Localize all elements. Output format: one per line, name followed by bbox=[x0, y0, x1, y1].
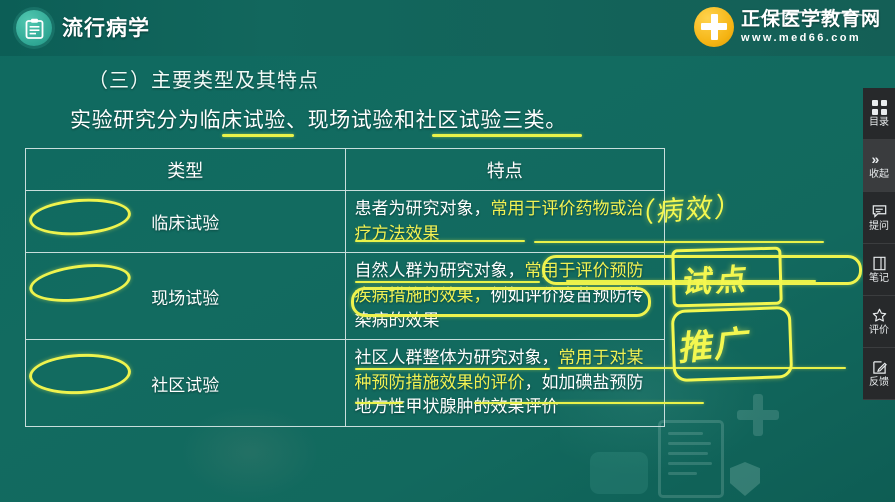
feature-plain-text: 自然人群为研究对象， bbox=[355, 261, 525, 280]
underline-annotation-5 bbox=[355, 281, 540, 283]
handwritten-box-2 bbox=[671, 306, 793, 382]
feature-plain-text: 患者为研究对象， bbox=[355, 199, 491, 218]
underline-annotation-10 bbox=[474, 402, 704, 404]
handwritten-box-1 bbox=[671, 247, 782, 308]
type-label: 临床试验 bbox=[151, 214, 219, 233]
cell-type-field-trial: 现场试验 bbox=[26, 253, 346, 340]
watermark-document-icon bbox=[658, 420, 724, 498]
note-page-icon bbox=[872, 256, 887, 271]
circle-annotation-2 bbox=[27, 259, 133, 307]
underline-annotation-9 bbox=[355, 402, 403, 404]
star-icon bbox=[872, 308, 887, 323]
section-heading: （三）主要类型及其特点 bbox=[88, 64, 319, 93]
cell-type-community-trial: 社区试验 bbox=[26, 340, 346, 427]
circle-annotation-3 bbox=[28, 352, 132, 397]
cell-feature-clinical-trial: 患者为研究对象，常用于评价药物或治疗方法效果 bbox=[345, 191, 665, 253]
circle-annotation-1 bbox=[28, 195, 132, 238]
clipboard-medical-icon bbox=[16, 10, 52, 46]
cell-feature-community-trial: 社区人群整体为研究对象，常用于对某种预防措施效果的评价，如加碘盐预防地方性甲状腺… bbox=[345, 340, 665, 427]
rail-item-label: 提问 bbox=[869, 222, 889, 232]
brand-url: www.med66.com bbox=[741, 33, 881, 44]
types-table: 类型 特点 临床试验 患者为研究对象，常用于评价药物或治疗方法效果 bbox=[25, 148, 665, 427]
feature-plain-text: 社区人群整体为研究对象， bbox=[355, 348, 559, 367]
table-row: 社区试验 社区人群整体为研究对象，常用于对某种预防措施效果的评价，如加碘盐预防地… bbox=[26, 340, 665, 427]
tool-rail: 目录 » 收起 提问 笔记 bbox=[863, 88, 895, 400]
column-header-feature: 特点 bbox=[345, 149, 665, 191]
brand-logo: 正保医学教育网 www.med66.com bbox=[694, 7, 881, 47]
underline-annotation-1 bbox=[222, 134, 294, 137]
table-header-row: 类型 特点 bbox=[26, 149, 665, 191]
rail-item-label: 反馈 bbox=[869, 378, 889, 388]
rail-item-label: 评价 bbox=[869, 326, 889, 336]
slide-viewer: 流行病学 正保医学教育网 www.med66.com （三）主要类型及其特点 实… bbox=[0, 0, 895, 502]
app-header: 流行病学 正保医学教育网 www.med66.com bbox=[0, 0, 895, 56]
underline-annotation-7 bbox=[355, 368, 550, 370]
type-label: 社区试验 bbox=[151, 376, 219, 395]
chat-bubble-icon bbox=[872, 204, 887, 219]
rail-item-feedback[interactable]: 反馈 bbox=[863, 348, 895, 400]
rail-item-label: 收起 bbox=[869, 170, 889, 180]
table-row: 现场试验 自然人群为研究对象，常用于评价预防疾病措施的效果，例如评价疫苗预防传染… bbox=[26, 253, 665, 340]
rail-item-collapse[interactable]: » 收起 bbox=[863, 140, 895, 192]
table-row: 临床试验 患者为研究对象，常用于评价药物或治疗方法效果 bbox=[26, 191, 665, 253]
chevron-right-double-icon: » bbox=[872, 152, 887, 167]
rail-item-rating[interactable]: 评价 bbox=[863, 296, 895, 348]
underline-annotation-3 bbox=[355, 240, 525, 242]
rail-item-label: 目录 bbox=[869, 118, 889, 128]
watermark-shield-icon bbox=[730, 462, 760, 496]
underline-annotation-4 bbox=[534, 241, 824, 243]
lead-sentence: 实验研究分为临床试验、现场试验和社区试验三类。 bbox=[70, 104, 567, 134]
grid-icon bbox=[872, 100, 887, 115]
watermark-plus-icon bbox=[735, 392, 781, 438]
medical-cross-circle-icon bbox=[694, 7, 734, 47]
rail-item-label: 笔记 bbox=[869, 274, 889, 284]
column-header-type: 类型 bbox=[26, 149, 346, 191]
rail-item-ask[interactable]: 提问 bbox=[863, 192, 895, 244]
course-title: 流行病学 bbox=[62, 12, 150, 42]
watermark-square-decoration bbox=[590, 452, 648, 494]
underline-annotation-2 bbox=[432, 134, 582, 137]
cell-feature-field-trial: 自然人群为研究对象，常用于评价预防疾病措施的效果，例如评价疫苗预防传染病的效果 bbox=[345, 253, 665, 340]
pencil-square-icon bbox=[872, 360, 887, 375]
cell-type-clinical-trial: 临床试验 bbox=[26, 191, 346, 253]
lead-text: 实验研究分为临床试验、现场试验和社区试验三类。 bbox=[70, 109, 567, 132]
type-label: 现场试验 bbox=[151, 289, 219, 308]
rail-item-catalog[interactable]: 目录 bbox=[863, 88, 895, 140]
brand-text: 正保医学教育网 www.med66.com bbox=[741, 10, 881, 44]
rail-item-notes[interactable]: 笔记 bbox=[863, 244, 895, 296]
